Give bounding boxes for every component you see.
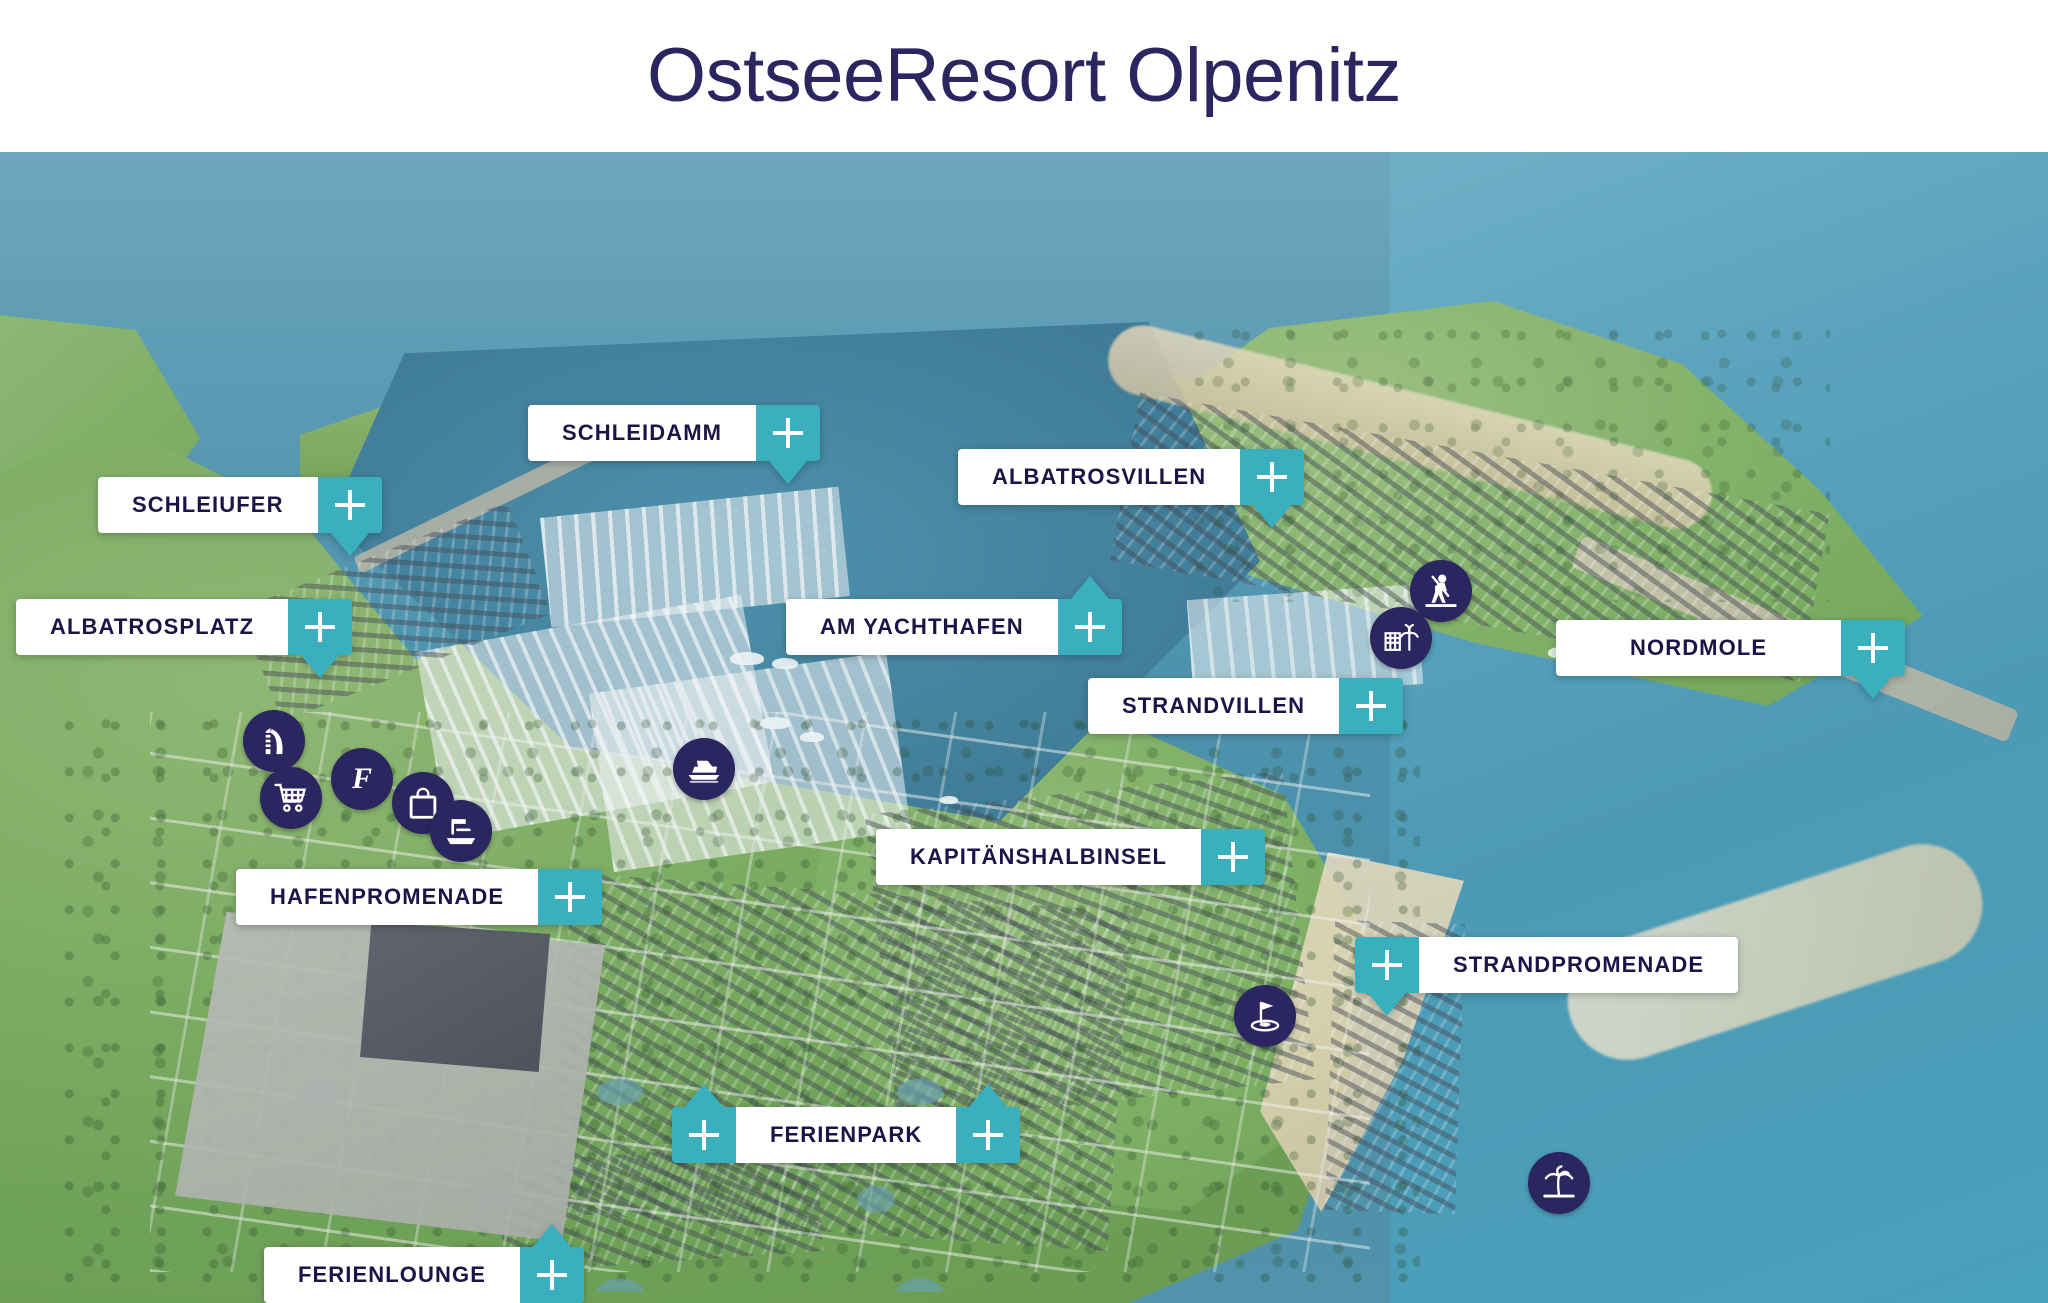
script-f-logo-icon[interactable]: F bbox=[331, 748, 393, 810]
hotspot-hafenpromenade[interactable]: HAFENPROMENADE bbox=[236, 869, 602, 925]
pointer-tail bbox=[1853, 675, 1893, 699]
plus-button[interactable] bbox=[520, 1247, 584, 1303]
pointer-tail bbox=[1070, 576, 1110, 600]
pointer-tail bbox=[968, 1084, 1008, 1108]
hotspot-label: STRANDPROMENADE bbox=[1419, 937, 1738, 993]
pointer-tail bbox=[684, 1084, 724, 1108]
hotspot-kapitaenshalbinsel[interactable]: KAPITÄNSHALBINSEL bbox=[876, 829, 1265, 885]
plus-button[interactable] bbox=[288, 599, 352, 655]
hotspot-label: STRANDVILLEN bbox=[1088, 678, 1339, 734]
motorboat-icon[interactable] bbox=[673, 738, 735, 800]
hotspot-albatrosvillen[interactable]: ALBATROSVILLEN bbox=[958, 449, 1304, 505]
plus-button[interactable] bbox=[318, 477, 382, 533]
script-f-glyph: F bbox=[352, 764, 372, 794]
hotspot-label: FERIENLOUNGE bbox=[264, 1247, 520, 1303]
pointer-tail bbox=[1367, 992, 1407, 1016]
boat bbox=[760, 717, 790, 729]
hotspot-label: NORDMOLE bbox=[1556, 620, 1841, 676]
plus-button[interactable] bbox=[1058, 599, 1122, 655]
plus-button[interactable] bbox=[1841, 620, 1905, 676]
hotspot-ferienpark[interactable]: FERIENPARK bbox=[672, 1107, 1020, 1163]
plus-button[interactable] bbox=[1339, 678, 1403, 734]
page-title: OstseeResort Olpenitz bbox=[647, 38, 1401, 114]
title-bar: OstseeResort Olpenitz bbox=[0, 0, 2048, 152]
spa-palm-icon[interactable] bbox=[1370, 607, 1432, 669]
hotspot-strandpromenade[interactable]: STRANDPROMENADE bbox=[1355, 937, 1738, 993]
resort-map[interactable]: F bbox=[0, 152, 2048, 1303]
hotspot-label: ALBATROSVILLEN bbox=[958, 449, 1240, 505]
hotspot-albatrosplatz[interactable]: ALBATROSPLATZ bbox=[16, 599, 352, 655]
pointer-tail bbox=[768, 460, 808, 484]
hotspot-nordmole[interactable]: NORDMOLE bbox=[1556, 620, 1905, 676]
hotspot-label: FERIENPARK bbox=[736, 1107, 956, 1163]
beach-palm-icon[interactable] bbox=[1528, 1152, 1590, 1214]
water-slide-icon[interactable] bbox=[243, 710, 305, 772]
golf-flag-icon[interactable] bbox=[1234, 985, 1296, 1047]
hotspot-label: ALBATROSPLATZ bbox=[16, 599, 288, 655]
plus-button[interactable] bbox=[1355, 937, 1419, 993]
aerial-map-image bbox=[0, 152, 2048, 1303]
hotspot-schleiufer[interactable]: SCHLEIUFER bbox=[98, 477, 382, 533]
hotspot-ferienlounge[interactable]: FERIENLOUNGE bbox=[264, 1247, 584, 1303]
plus-button[interactable] bbox=[1240, 449, 1304, 505]
hotspot-schleidamm[interactable]: SCHLEIDAMM bbox=[528, 405, 820, 461]
hotspot-label: KAPITÄNSHALBINSEL bbox=[876, 829, 1201, 885]
boat bbox=[772, 658, 798, 669]
hotspot-label: SCHLEIDAMM bbox=[528, 405, 756, 461]
boat bbox=[940, 796, 958, 804]
pointer-tail bbox=[300, 654, 340, 678]
hotspot-label: SCHLEIUFER bbox=[98, 477, 318, 533]
plus-button-left[interactable] bbox=[672, 1107, 736, 1163]
sauna-boat-icon[interactable] bbox=[430, 800, 492, 862]
hotspot-label: HAFENPROMENADE bbox=[236, 869, 538, 925]
pointer-tail bbox=[532, 1224, 572, 1248]
plus-button[interactable] bbox=[756, 405, 820, 461]
plus-button[interactable] bbox=[538, 869, 602, 925]
hotspot-strandvillen[interactable]: STRANDVILLEN bbox=[1088, 678, 1403, 734]
main-building-roof bbox=[360, 922, 550, 1072]
pointer-tail bbox=[330, 532, 370, 556]
hotspot-label: AM YACHTHAFEN bbox=[786, 599, 1058, 655]
pointer-tail bbox=[1252, 504, 1292, 528]
plus-button-right[interactable] bbox=[956, 1107, 1020, 1163]
boat bbox=[730, 652, 764, 665]
plus-button[interactable] bbox=[1201, 829, 1265, 885]
boat bbox=[800, 732, 824, 742]
hotspot-am-yachthafen[interactable]: AM YACHTHAFEN bbox=[786, 599, 1122, 655]
shopping-cart-icon[interactable] bbox=[260, 767, 322, 829]
